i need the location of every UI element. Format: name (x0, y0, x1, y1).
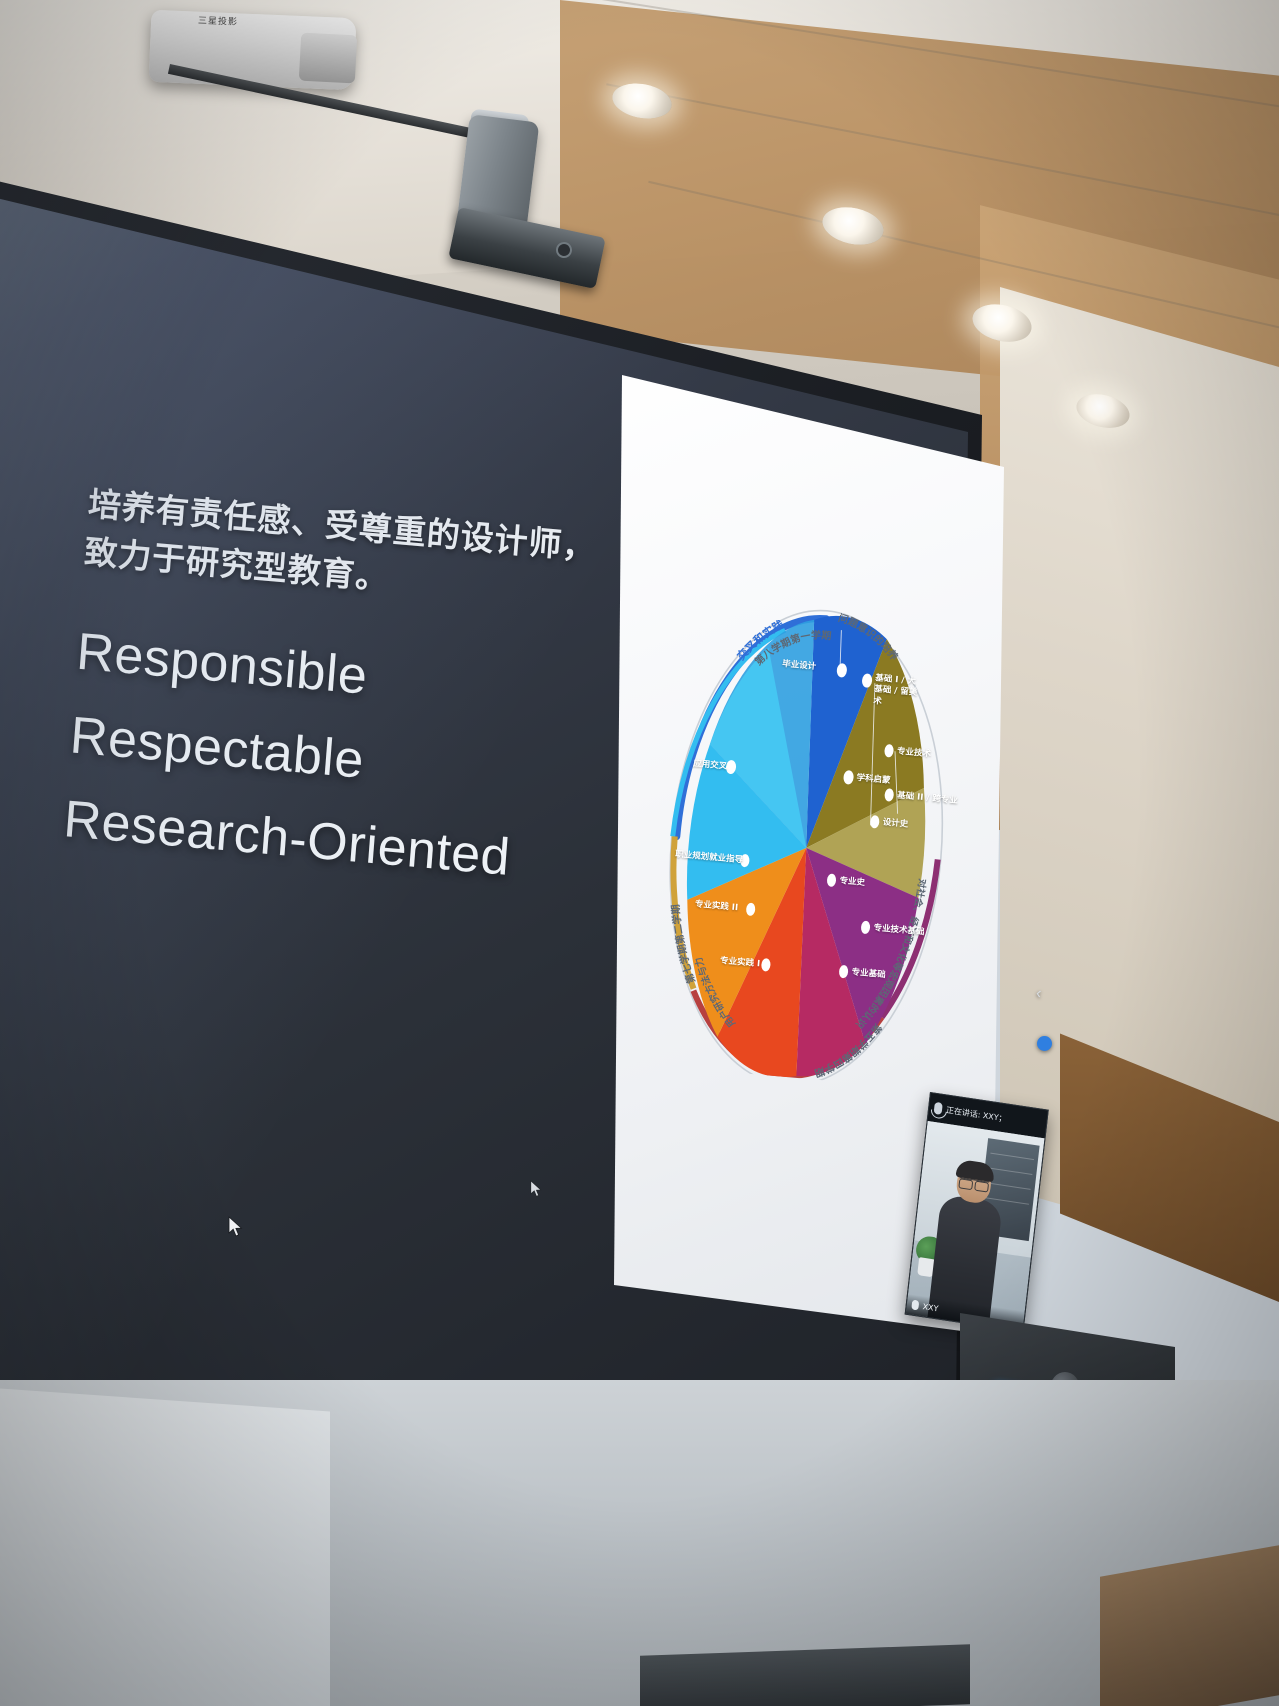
room-photo: 三星投影 培养有责任感、受尊重的设计师， 致力于研究型教育。 Responsib… (0, 0, 1279, 1706)
wheel-svg: 交叉和实践 问题意识的培养 第八学期第一学期 第五学期第四学期 对社会、经济和文… (627, 535, 992, 1091)
lower-wall-panel (0, 1388, 330, 1706)
segment-label-design-history: 设计史 (882, 816, 908, 830)
participant-name-label: XXY (922, 1302, 939, 1313)
microphone-small-icon (911, 1300, 919, 1311)
speaking-status-label: 正在讲话: XXY； (945, 1104, 1007, 1124)
meeting-action-dot-icon[interactable] (1037, 1036, 1052, 1051)
display-stand-base (640, 1644, 970, 1706)
video-participant-thumbnail[interactable]: 正在讲话: XXY； XXY (905, 1092, 1049, 1332)
slide-english-list: Responsible Respectable Research-Oriente… (61, 609, 638, 910)
segment-label-pro-history: 专业史 (839, 874, 865, 888)
video-feed: XXY (906, 1121, 1045, 1331)
curriculum-wheel-diagram: 交叉和实践 问题意识的培养 第八学期第一学期 第五学期第四学期 对社会、经济和文… (624, 535, 992, 1121)
slide-text-block: 培养有责任感、受尊重的设计师， 致力于研究型教育。 Responsible Re… (61, 480, 648, 910)
segment-label-foundation-1: 基础 I / 大基础 / 留美术 (873, 673, 920, 711)
microphone-icon (934, 1102, 943, 1115)
